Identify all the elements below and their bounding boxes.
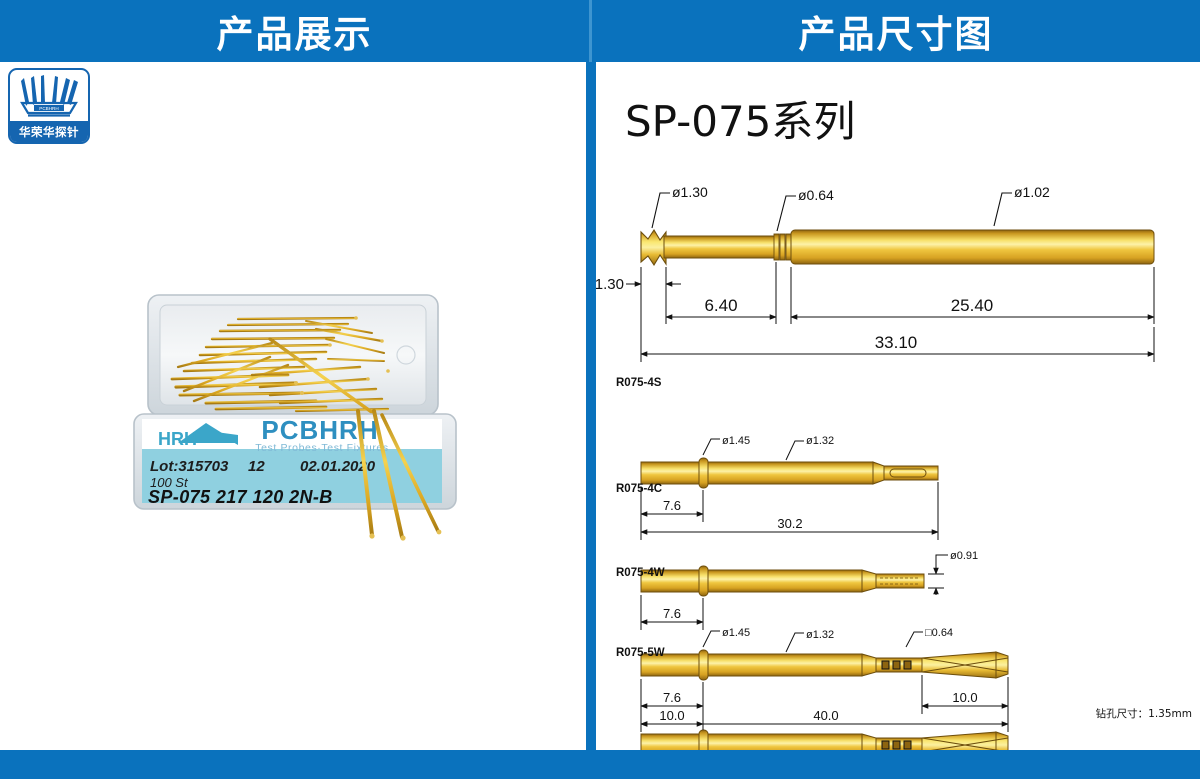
drill-size-note: 钻孔尺寸：1.35mm [1096,706,1192,721]
product-photo: HRH PCBHRH Test Probes·Test Fixtures Lot… [120,283,490,563]
variant-label-4w: R075-4W [616,567,665,579]
variant-4s-dim-2: 30.2 [777,516,802,531]
brand-logo: PCBHRH 华荣华探针 [8,68,90,144]
variant-4w-dim-3: 10.0 [952,690,977,705]
crown-icon: PCBHRH [10,72,88,118]
product-spec-page: 产品展示 产品尺寸图 PCBHRH 华荣华探针 [0,0,1200,779]
probe-box-label-lid: HRH PCBHRH Test Probes·Test Fixtures Lot… [134,414,456,509]
variant-label-4c: R075-4C [616,483,662,495]
variant-4s-drawing [641,439,938,488]
variant-4s-dim-1: 7.6 [663,498,681,513]
dimension-drawings: ø1.30 ø0.64 ø1.02 1.30 6.40 25.40 33.10 … [596,62,1200,750]
main-dia-1: ø1.30 [672,184,708,200]
variant-4w-dim-2: 40.0 [813,708,838,723]
label-lot: Lot:315703 [150,458,229,475]
variant-5w-dim-group: 10.0 [634,708,764,742]
main-dia-3: ø1.02 [1014,184,1050,200]
label-model: SP-075 217 120 2N-B [148,487,333,507]
variant-4w-dia-3: □0.64 [925,627,953,639]
variant-label-5w: R075-5W [616,647,665,659]
main-dim-front: 6.40 [704,296,737,315]
main-dim-head: 1.30 [596,276,624,293]
footer-bar [0,750,1200,779]
header-left-title: 产品展示 [0,0,589,62]
main-dia-2: ø0.64 [798,187,834,203]
hrh-text: HRH [158,429,197,449]
variant-4c-dia-1: ø0.91 [950,550,978,562]
variant-4s-dia-1: ø1.45 [722,435,750,447]
main-dim-total: 33.10 [875,333,918,352]
variant-4w-dia-1: ø1.45 [722,627,750,639]
variant-4c-dim-1: 7.6 [663,606,681,621]
label-qty-code: 12 [248,458,265,475]
panel-divider [586,62,596,750]
variant-4s-dimensions [641,482,938,540]
variant-label-4s: R075-4S [616,377,662,389]
variant-4c-drawing [641,555,948,596]
variant-4w-dim-1: 7.6 [663,690,681,705]
header-right-title: 产品尺寸图 [592,0,1200,62]
main-probe-drawing [641,230,1154,265]
logo-mark-text: PCBHRH [39,106,58,111]
variant-4s-dia-2: ø1.32 [806,435,834,447]
variant-4w-dia-2: ø1.32 [806,629,834,641]
header-bar: 产品展示 产品尺寸图 [0,0,1200,62]
brand-tagline: Test Probes·Test Fixtures [255,442,388,454]
main-dim-rear: 25.40 [951,296,994,315]
variant-5w-dim-1: 10.0 [659,708,684,723]
logo-brand-text: 华荣华探针 [10,121,88,142]
